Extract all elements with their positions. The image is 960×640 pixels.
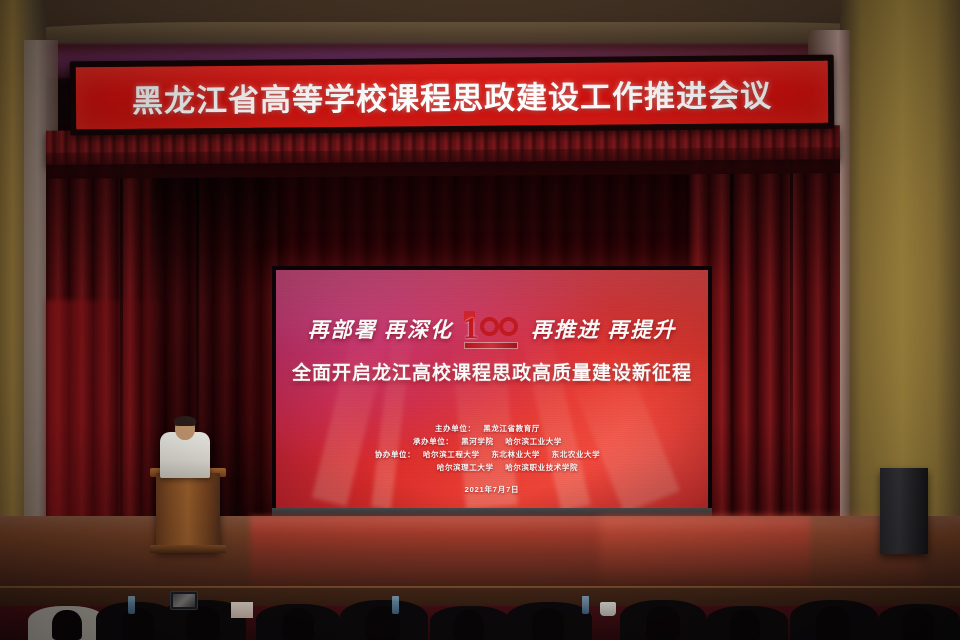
- podium-base: [150, 545, 226, 553]
- curtain-valance-shadow: [46, 147, 840, 179]
- led-scanline-overlay: [276, 270, 708, 510]
- led-screen: 再部署 再深化 1 再推进 再提升 全面开启龙江高校课程思政高质量建设新征程 主…: [276, 270, 708, 510]
- water-bottle: [392, 596, 399, 614]
- glasses-icon: [176, 425, 194, 430]
- audience-head: [122, 608, 154, 640]
- tea-cup: [600, 602, 616, 616]
- name-placard: [231, 602, 253, 618]
- audience-head: [186, 606, 220, 640]
- audience-head: [532, 608, 564, 640]
- audience-head: [902, 608, 934, 640]
- loudspeaker-cabinet: [880, 468, 928, 554]
- banner-surface: 黑龙江省高等学校课程思政建设工作推进会议: [76, 61, 829, 130]
- audience-head: [730, 610, 760, 640]
- banner-title-text: 黑龙江省高等学校课程思政建设工作推进会议: [132, 70, 772, 121]
- audience-foreground: [0, 580, 960, 640]
- led-screen-frame: 再部署 再深化 1 再推进 再提升 全面开启龙江高校课程思政高质量建设新征程 主…: [272, 266, 712, 514]
- curtain-fold: [120, 140, 123, 540]
- smartphone: [170, 591, 198, 610]
- conference-banner: 黑龙江省高等学校课程思政建设工作推进会议: [76, 61, 829, 130]
- audience-head: [282, 608, 314, 640]
- floor-sheen: [0, 516, 960, 534]
- audience-head: [816, 606, 850, 640]
- phone-screen: [173, 594, 195, 607]
- audience-head: [52, 610, 82, 640]
- curtain-fold: [790, 140, 793, 540]
- audience-head: [454, 610, 484, 640]
- curtain-left-highlight: [46, 300, 166, 550]
- water-bottle: [128, 596, 135, 614]
- curtain-fold: [730, 140, 733, 540]
- water-bottle: [582, 596, 589, 614]
- audience-head: [646, 606, 680, 640]
- podium: [156, 473, 220, 551]
- auditorium-photo: 黑龙江省高等学校课程思政建设工作推进会议 再部署 再深化 1 再: [0, 0, 960, 640]
